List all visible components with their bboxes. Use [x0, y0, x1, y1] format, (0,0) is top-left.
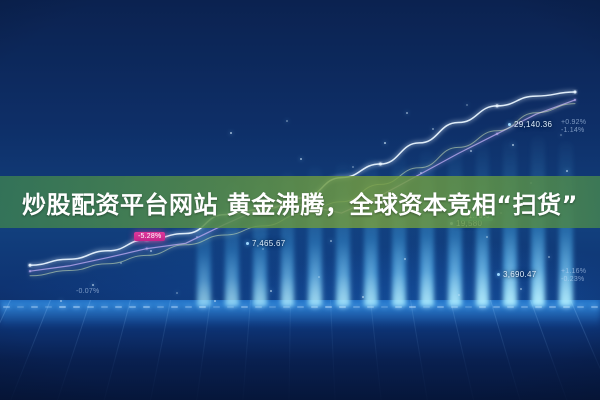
chart-data-point — [574, 91, 577, 94]
chart-data-point — [146, 247, 148, 249]
price-annotation: 29,140.36 — [508, 120, 552, 129]
chart-data-point — [379, 163, 382, 166]
percent-change-label: -0.23% — [561, 276, 584, 283]
chart-data-point — [496, 104, 499, 107]
percent-change-label: -0.07% — [76, 288, 99, 295]
annotation-value: 29,140.36 — [514, 120, 552, 129]
percent-change-label: -1.14% — [561, 127, 584, 134]
percent-change-label: +0.92% — [561, 119, 586, 126]
chart-data-point — [496, 133, 498, 135]
chart-data-point — [29, 270, 31, 272]
annotation-value: 7,465.67 — [252, 239, 286, 248]
chart-data-point — [29, 264, 32, 267]
annotation-value: 3,690.47 — [503, 270, 537, 279]
title-band: 炒股配资平台网站 黄金沸腾，全球资本竞相“扫货” — [0, 176, 600, 228]
percent-change-badge: -5.28% — [134, 232, 165, 241]
price-annotation: 7,465.67 — [246, 239, 286, 248]
annotation-marker-dot — [508, 123, 511, 126]
annotation-marker-dot — [497, 273, 500, 276]
chart-data-point — [574, 99, 576, 101]
page-title: 炒股配资平台网站 黄金沸腾，全球资本竞相“扫货” — [22, 185, 578, 220]
stock-market-banner: 29,140.3619,5807,465.673,690.47 -5.28%+1… — [0, 0, 600, 400]
annotation-marker-dot — [246, 242, 249, 245]
percent-change-label: +1.16% — [561, 268, 586, 275]
price-annotation: 3,690.47 — [497, 270, 537, 279]
